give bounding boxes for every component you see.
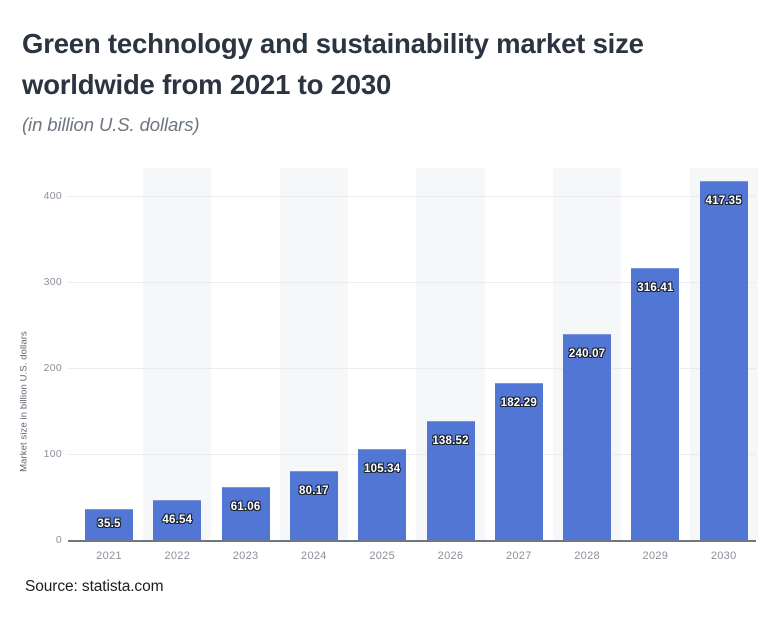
bar[interactable]: 417.35 [700, 181, 748, 540]
bar-value-label: 46.54 [162, 514, 192, 526]
x-axis-tick-label: 2024 [280, 550, 348, 562]
plot-area: 35.5202146.54202261.06202380.172024105.3… [68, 168, 756, 568]
bar[interactable]: 138.52 [427, 421, 475, 540]
bar-value-label: 138.52 [432, 435, 468, 447]
x-axis-tick-label: 2027 [485, 550, 553, 562]
bar-value-label: 182.29 [501, 397, 537, 409]
y-axis-tick-labels: 0100200300400 [18, 168, 62, 568]
bar[interactable]: 182.29 [495, 383, 543, 540]
bar[interactable]: 105.34 [358, 449, 406, 540]
bar-value-label: 35.5 [97, 518, 120, 530]
y-axis-tick-label: 100 [22, 448, 62, 460]
bar-value-label: 240.07 [569, 348, 605, 360]
x-axis-tick-label: 2029 [621, 550, 689, 562]
bar[interactable]: 61.06 [222, 487, 270, 540]
bar-layer: 35.5202146.54202261.06202380.172024105.3… [68, 168, 756, 568]
bar[interactable]: 316.41 [631, 268, 679, 540]
bar-value-label: 316.41 [637, 282, 673, 294]
bar[interactable]: 46.54 [153, 500, 201, 540]
bar[interactable]: 80.17 [290, 471, 338, 540]
y-axis-tick-label: 200 [22, 362, 62, 374]
x-axis-tick-label: 2025 [348, 550, 416, 562]
y-axis-tick-label: 300 [22, 276, 62, 288]
chart-header: Green technology and sustainability mark… [22, 24, 762, 136]
bar-value-label: 61.06 [231, 501, 261, 513]
bar-value-label: 417.35 [706, 195, 742, 207]
y-axis-tick-label: 0 [22, 534, 62, 546]
bar[interactable]: 35.5 [85, 509, 133, 540]
x-axis-tick-label: 2021 [75, 550, 143, 562]
x-axis-tick-label: 2023 [212, 550, 280, 562]
bar-chart: Market size in billion U.S. dollars 0100… [0, 168, 768, 568]
y-axis-tick-label: 400 [22, 190, 62, 202]
bar[interactable]: 240.07 [563, 334, 611, 540]
x-axis-tick-label: 2022 [143, 550, 211, 562]
bar-value-label: 105.34 [364, 463, 400, 475]
page-title: Green technology and sustainability mark… [22, 24, 762, 105]
chart-subtitle: (in billion U.S. dollars) [22, 114, 762, 136]
bar-value-label: 80.17 [299, 485, 329, 497]
x-axis-tick-label: 2028 [553, 550, 621, 562]
x-axis-tick-label: 2030 [690, 550, 758, 562]
x-axis-tick-label: 2026 [417, 550, 485, 562]
source-note: Source: statista.com [25, 578, 163, 596]
